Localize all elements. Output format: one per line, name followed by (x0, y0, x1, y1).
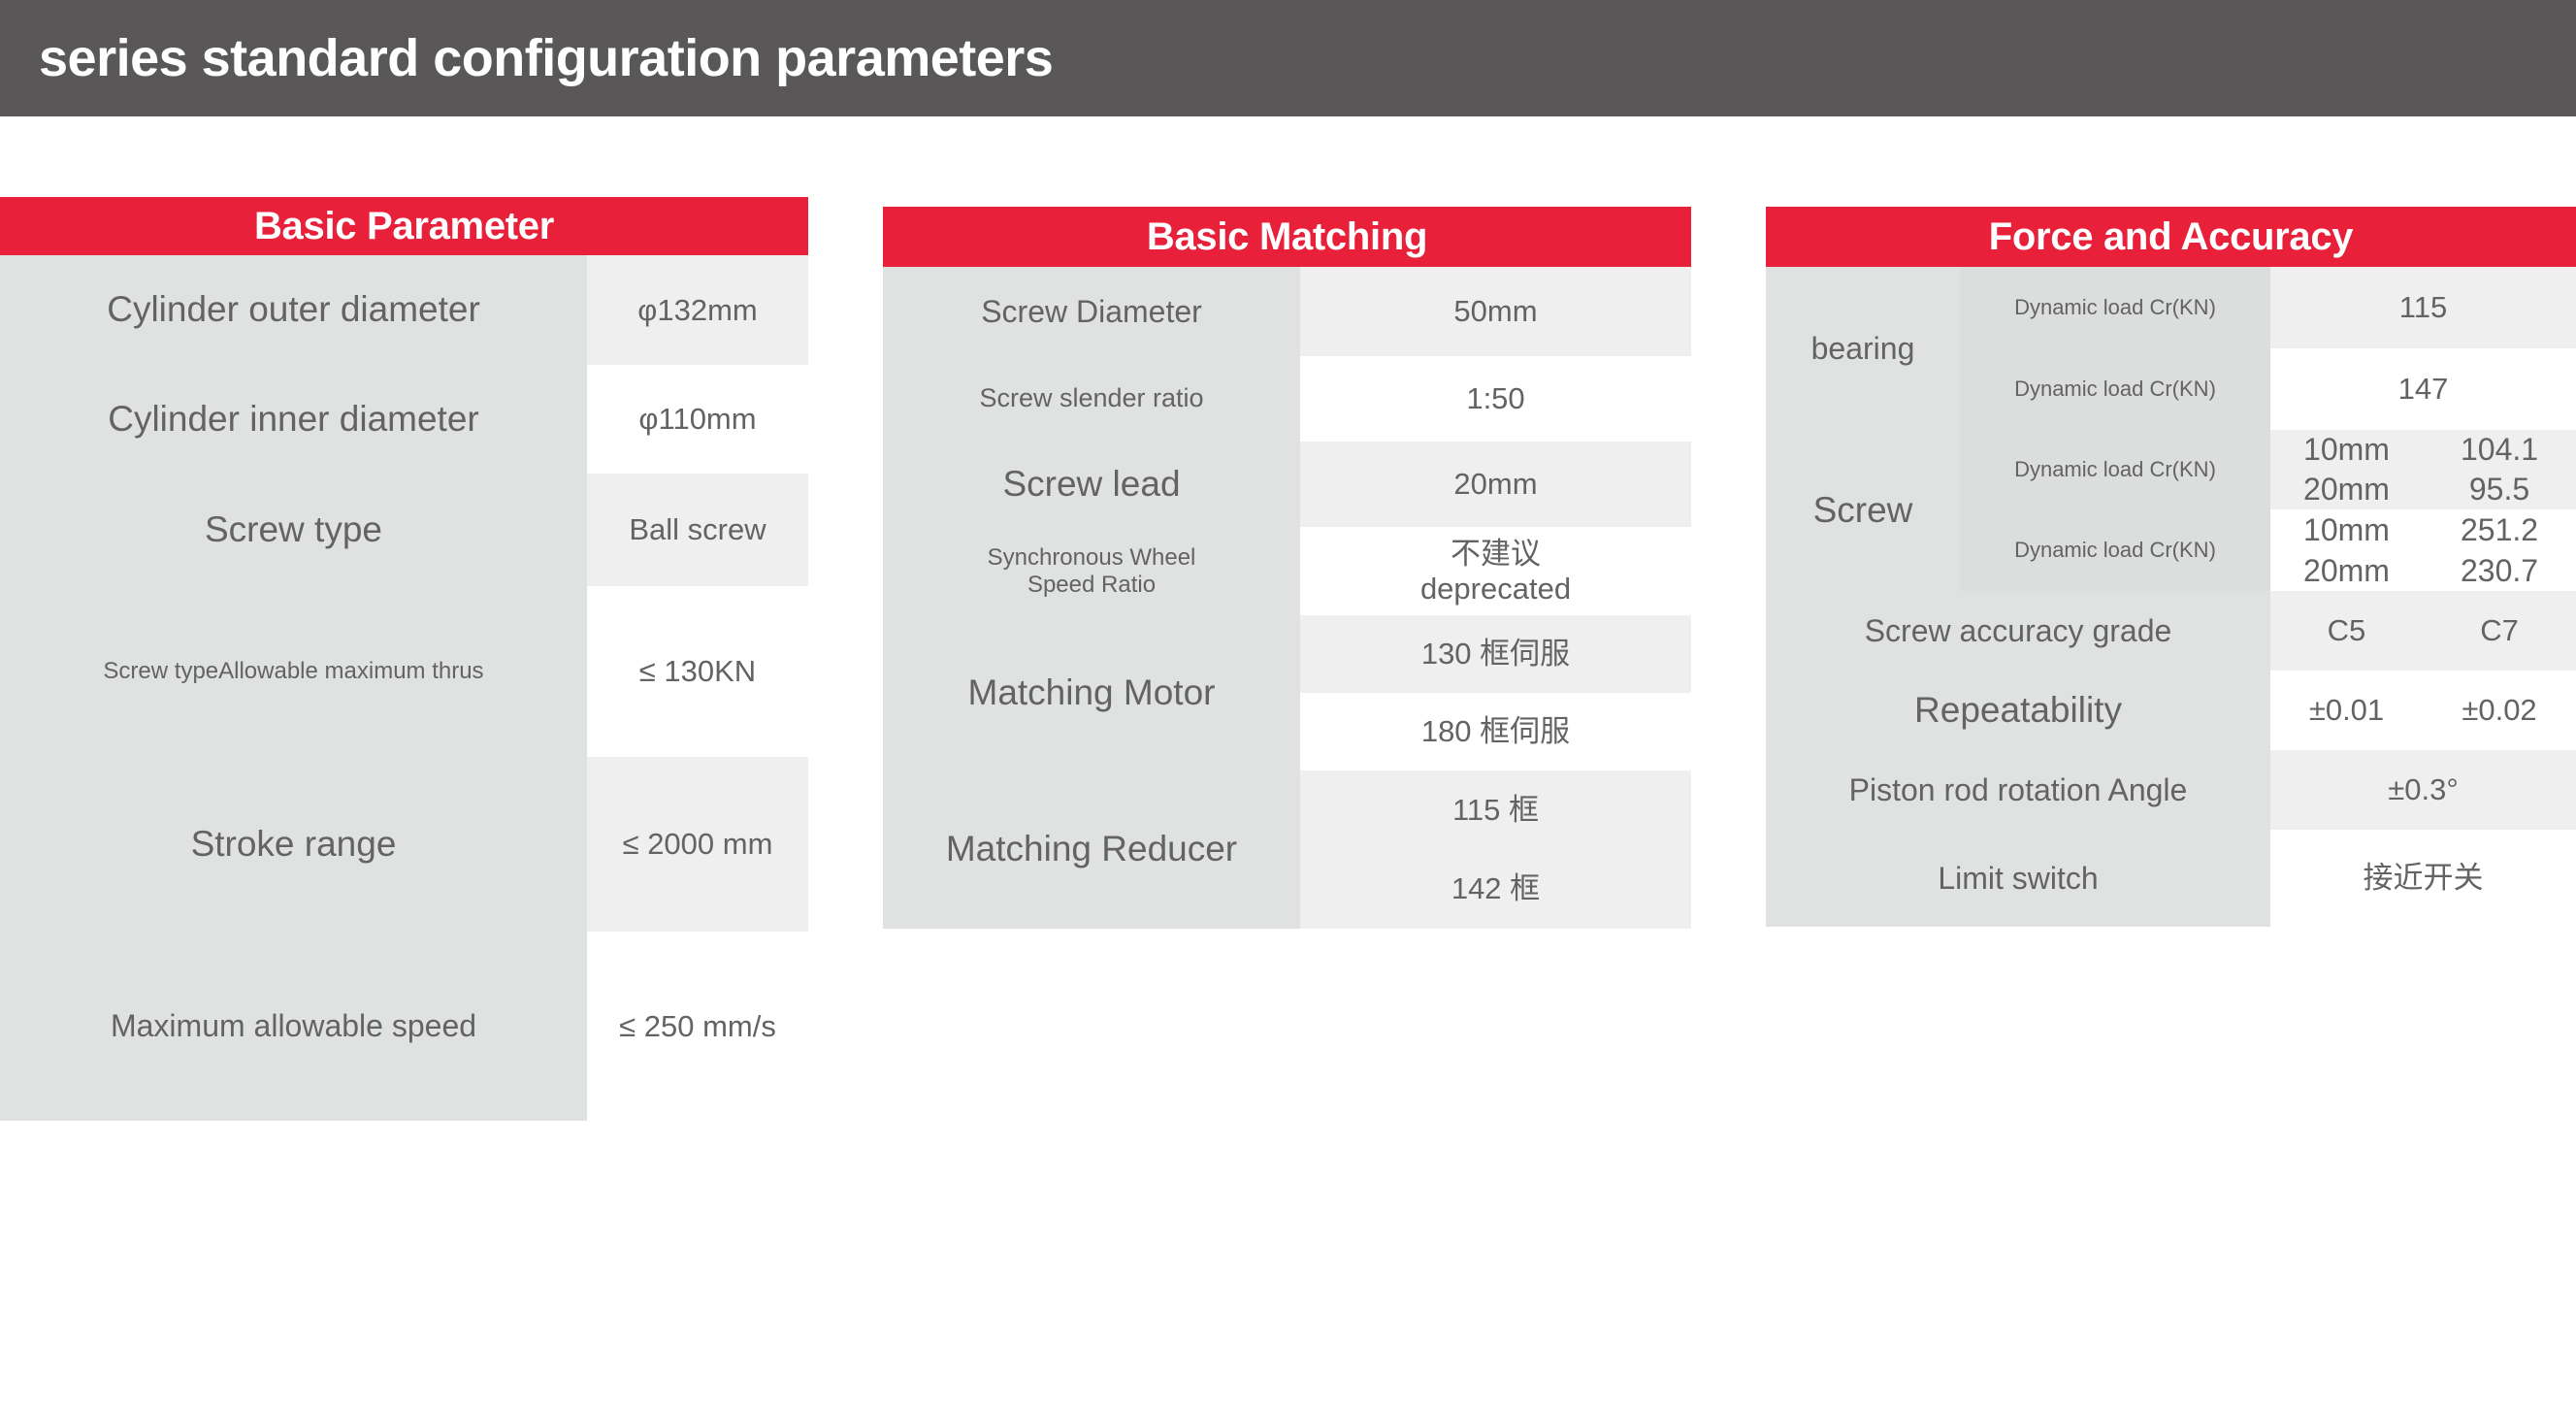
table-basic-parameter: Cylinder outer diameter φ132mm Cylinder … (0, 255, 808, 1121)
row-label: Cylinder inner diameter (0, 365, 587, 474)
row-label: Screw accuracy grade (1766, 591, 2270, 671)
row-label: Screw slender ratio (883, 356, 1300, 442)
row-label: Synchronous WheelSpeed Ratio (883, 527, 1300, 615)
row-label: Cylinder outer diameter (0, 255, 587, 365)
row-label-line1: Synchronous WheelSpeed Ratio (988, 544, 1196, 598)
row-value: 180 框伺服 (1300, 693, 1691, 770)
sub-lead: 10mm (2270, 430, 2423, 470)
table-row: Screw slender ratio 1:50 (883, 356, 1691, 442)
group-label-screw: Screw (1766, 430, 1960, 591)
row-value: ≤ 250 mm/s (587, 932, 808, 1121)
group-label-bearing: bearing (1766, 267, 1960, 430)
row-value: 142 框 (1300, 849, 1691, 929)
row-value: 130 框伺服 (1300, 615, 1691, 693)
panel-header-force-and-accuracy: Force and Accuracy (1766, 207, 2576, 267)
table-row: Matching Reducer 115 框 (883, 770, 1691, 849)
row-label: Dynamic load Cr(KN) (1960, 348, 2270, 430)
table-row: Matching Motor 130 框伺服 (883, 615, 1691, 693)
row-value: ±0.02 (2423, 671, 2576, 750)
table-force-and-accuracy: bearing Dynamic load Cr(KN) 115 Dynamic … (1766, 267, 2576, 927)
table-row: Cylinder outer diameter φ132mm (0, 255, 808, 365)
row-label: Dynamic load Cr(KN) (1960, 430, 2270, 509)
row-label: Dynamic load Cr(KN) (1960, 509, 2270, 591)
row-value: φ132mm (587, 255, 808, 365)
row-value: 115 (2270, 267, 2576, 348)
table-row: Screw Diameter 50mm (883, 267, 1691, 356)
row-value: 20mm (1300, 442, 1691, 527)
table-row: Maximum allowable speed ≤ 250 mm/s (0, 932, 808, 1121)
sub-lead: 20mm (2270, 470, 2423, 509)
row-label: Piston rod rotation Angle (1766, 750, 2270, 830)
row-value: ≤ 2000 mm (587, 757, 808, 932)
row-label: Matching Motor (883, 615, 1300, 770)
row-value: 147 (2270, 348, 2576, 430)
sub-value: 104.1 (2423, 430, 2576, 470)
row-value: 不建议deprecated (1300, 527, 1691, 615)
table-row: Piston rod rotation Angle ±0.3° (1766, 750, 2576, 830)
table-row: Repeatability ±0.01 ±0.02 (1766, 671, 2576, 750)
panel-basic-parameter: Basic Parameter Cylinder outer diameter … (0, 197, 808, 1121)
row-label: Dynamic load Cr(KN) (1960, 267, 2270, 348)
row-label: Screw lead (883, 442, 1300, 527)
sub-lead: 10mm (2270, 509, 2423, 551)
row-label: Screw type (0, 474, 587, 586)
row-value: ±0.01 (2270, 671, 2423, 750)
row-label: Maximum allowable speed (0, 932, 587, 1121)
table-row: Screw Dynamic load Cr(KN) 10mm 104.1 (1766, 430, 2576, 470)
table-basic-matching: Screw Diameter 50mm Screw slender ratio … (883, 267, 1691, 929)
sub-value: 95.5 (2423, 470, 2576, 509)
row-value: C5 (2270, 591, 2423, 671)
top-banner: series standard configuration parameters (0, 0, 2576, 116)
row-label: Screw Diameter (883, 267, 1300, 356)
row-value: φ110mm (587, 365, 808, 474)
table-row: Cylinder inner diameter φ110mm (0, 365, 808, 474)
sub-value: 230.7 (2423, 551, 2576, 591)
page-title: series standard configuration parameters (39, 0, 1053, 116)
table-row: Synchronous WheelSpeed Ratio 不建议deprecat… (883, 527, 1691, 615)
row-value: 1:50 (1300, 356, 1691, 442)
panel-header-basic-matching: Basic Matching (883, 207, 1691, 267)
row-value: ≤ 130KN (587, 586, 808, 757)
row-label: Matching Reducer (883, 770, 1300, 929)
row-label: Stroke range (0, 757, 587, 932)
row-label: Screw typeAllowable maximum thrus (0, 586, 587, 757)
row-value: ±0.3° (2270, 750, 2576, 830)
row-value: Ball screw (587, 474, 808, 586)
row-value: 接近开关 (2270, 830, 2576, 927)
table-row: Stroke range ≤ 2000 mm (0, 757, 808, 932)
table-row: Screw type Ball screw (0, 474, 808, 586)
row-value: 50mm (1300, 267, 1691, 356)
table-row: Screw lead 20mm (883, 442, 1691, 527)
table-row: Screw typeAllowable maximum thrus ≤ 130K… (0, 586, 808, 757)
table-row: Limit switch 接近开关 (1766, 830, 2576, 927)
row-value: 115 框 (1300, 770, 1691, 849)
row-label: Repeatability (1766, 671, 2270, 750)
table-row: Screw accuracy grade C5 C7 (1766, 591, 2576, 671)
panel-basic-matching: Basic Matching Screw Diameter 50mm Screw… (883, 207, 1691, 929)
table-row: bearing Dynamic load Cr(KN) 115 (1766, 267, 2576, 348)
sub-value: 251.2 (2423, 509, 2576, 551)
row-label: Limit switch (1766, 830, 2270, 927)
panel-force-and-accuracy: Force and Accuracy bearing Dynamic load … (1766, 207, 2576, 927)
row-value: C7 (2423, 591, 2576, 671)
panel-header-basic-parameter: Basic Parameter (0, 197, 808, 255)
sub-lead: 20mm (2270, 551, 2423, 591)
